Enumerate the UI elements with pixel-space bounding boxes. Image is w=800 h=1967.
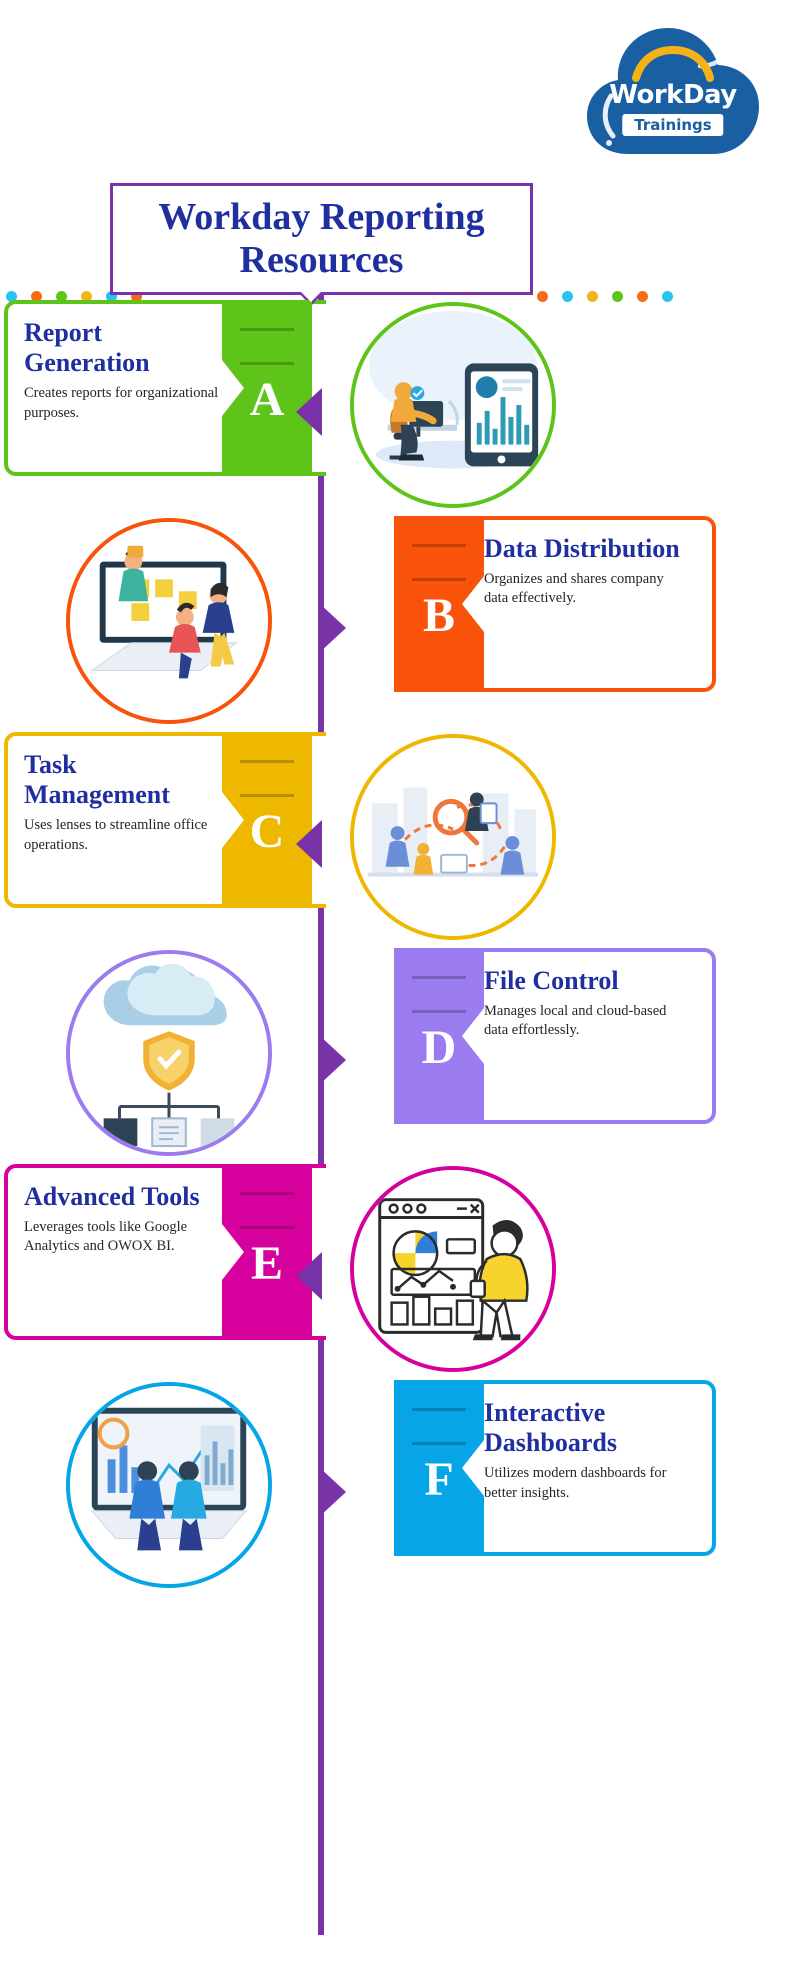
- workflow-gears-people-icon: [350, 734, 556, 940]
- card-title-e: Advanced Tools: [24, 1182, 224, 1212]
- timeline-arrow-d: [320, 1036, 346, 1084]
- card-body-c: Uses lenses to streamline office operati…: [24, 816, 224, 855]
- section-row-e: Advanced Tools Leverages tools like Goog…: [0, 1164, 800, 1380]
- badge-rule-bottom: [412, 578, 466, 581]
- section-row-d: File Control Manages local and cloud-bas…: [0, 948, 800, 1164]
- workday-trainings-logo: WorkDay Trainings: [583, 12, 763, 160]
- card-body-e: Leverages tools like Google Analytics an…: [24, 1218, 224, 1257]
- card-content: File Control Manages local and cloud-bas…: [476, 952, 698, 1041]
- cloud-shield-files-icon: [66, 950, 272, 1156]
- timeline-spine: [318, 295, 324, 1935]
- card-content: Data Distribution Organizes and shares c…: [476, 520, 698, 609]
- card-body-b: Organizes and shares company data effect…: [484, 570, 682, 609]
- letter-badge-f[interactable]: F: [394, 1380, 484, 1556]
- title-pointer-inner-icon: [301, 292, 321, 302]
- card-content: Task Management Uses lenses to streamlin…: [8, 736, 240, 855]
- card-title-c: Task Management: [24, 750, 224, 810]
- badge-rule-bottom: [240, 1226, 294, 1229]
- badge-rule-bottom: [412, 1442, 466, 1445]
- page-title-box: Workday Reporting Resources: [110, 183, 533, 295]
- card-body-a: Creates reports for organizational purpo…: [24, 384, 224, 423]
- page-title-line2: Resources: [240, 239, 404, 281]
- timeline-arrow-c: [296, 820, 322, 868]
- badge-letter: D: [394, 1020, 484, 1075]
- logo-secondary-text: Trainings: [622, 114, 723, 136]
- badge-rule-top: [412, 976, 466, 979]
- letter-badge-b[interactable]: B: [394, 516, 484, 692]
- badge-rule-top: [240, 328, 294, 331]
- section-row-b: Data Distribution Organizes and shares c…: [0, 516, 800, 732]
- section-row-f: Interactive Dashboards Utilizes modern d…: [0, 1380, 800, 1596]
- infographic-header: WorkDay Trainings Workday Reporting Reso…: [0, 0, 800, 300]
- team-sticky-notes-board-icon: [66, 518, 272, 724]
- card-body-f: Utilizes modern dashboards for better in…: [484, 1464, 682, 1503]
- badge-rule-bottom: [240, 362, 294, 365]
- badge-letter: B: [394, 588, 484, 643]
- badge-rule-top: [240, 1192, 294, 1195]
- card-title-b: Data Distribution: [484, 534, 682, 564]
- badge-letter: F: [394, 1452, 484, 1507]
- letter-badge-d[interactable]: D: [394, 948, 484, 1124]
- sections-list: Report Generation Creates reports for or…: [0, 300, 800, 1596]
- section-row-a: Report Generation Creates reports for or…: [0, 300, 800, 516]
- card-content: Report Generation Creates reports for or…: [8, 304, 240, 423]
- badge-rule-bottom: [240, 794, 294, 797]
- two-people-viewing-dashboard-icon: [66, 1382, 272, 1588]
- timeline-arrow-f: [320, 1468, 346, 1516]
- timeline-arrow-b: [320, 604, 346, 652]
- card-content: Advanced Tools Leverages tools like Goog…: [8, 1168, 240, 1257]
- card-title-d: File Control: [484, 966, 682, 996]
- dashboard-analytics-person-icon: [350, 1166, 556, 1372]
- badge-rule-top: [412, 544, 466, 547]
- timeline-arrow-e: [296, 1252, 322, 1300]
- page-title: Workday Reporting Resources: [158, 196, 484, 281]
- timeline-arrow-a: [296, 388, 322, 436]
- card-content: Interactive Dashboards Utilizes modern d…: [476, 1384, 698, 1503]
- logo-primary-text: WorkDay: [583, 80, 763, 110]
- badge-rule-top: [412, 1408, 466, 1411]
- badge-rule-bottom: [412, 1010, 466, 1013]
- badge-rule-top: [240, 760, 294, 763]
- card-title-f: Interactive Dashboards: [484, 1398, 682, 1458]
- page-title-line1: Workday Reporting: [158, 196, 484, 238]
- section-row-c: Task Management Uses lenses to streamlin…: [0, 732, 800, 948]
- card-title-a: Report Generation: [24, 318, 224, 378]
- analyst-at-desk-with-charts-icon: [350, 302, 556, 508]
- card-body-d: Manages local and cloud-based data effor…: [484, 1002, 682, 1041]
